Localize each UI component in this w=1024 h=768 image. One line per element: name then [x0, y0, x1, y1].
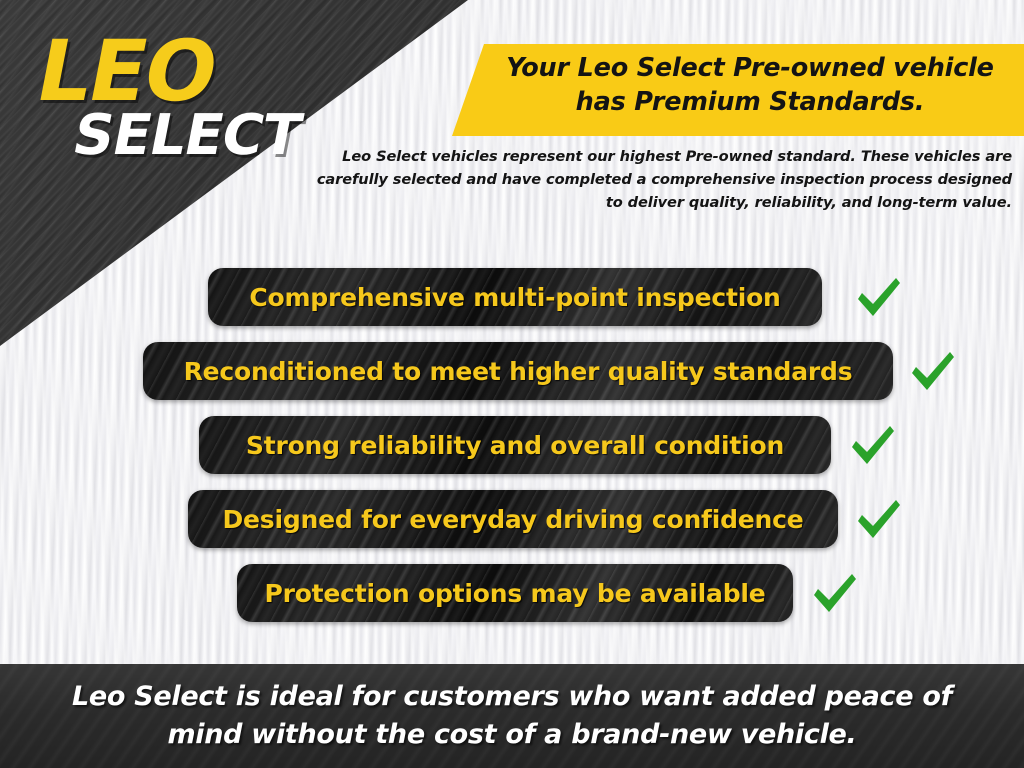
feature-row: Designed for everyday driving confidence: [0, 490, 1024, 564]
headline-text: Your Leo Select Pre-owned vehicle has Pr…: [484, 52, 1016, 119]
feature-row: Comprehensive multi-point inspection: [0, 268, 1024, 342]
footer-banner: Leo Select is ideal for customers who wa…: [0, 664, 1024, 768]
check-mark-icon: [808, 570, 860, 618]
feature-row: Protection options may be available: [0, 564, 1024, 638]
leo-select-promo-poster: LEO SELECT Your Leo Select Pre-owned veh…: [0, 0, 1024, 768]
feature-label: Reconditioned to meet higher quality sta…: [184, 357, 853, 386]
feature-row: Strong reliability and overall condition: [0, 416, 1024, 490]
feature-pill: Strong reliability and overall condition: [199, 416, 831, 474]
feature-list: Comprehensive multi-point inspection Rec…: [0, 268, 1024, 638]
check-mark-icon: [852, 274, 904, 322]
feature-pill: Comprehensive multi-point inspection: [208, 268, 822, 326]
headline-line-1: Your Leo Select Pre-owned vehicle: [484, 52, 1016, 86]
feature-pill: Reconditioned to meet higher quality sta…: [143, 342, 893, 400]
footer-text: Leo Select is ideal for customers who wa…: [62, 678, 962, 755]
feature-pill: Protection options may be available: [237, 564, 793, 622]
headline-line-2: has Premium Standards.: [484, 86, 1016, 120]
intro-paragraph: Leo Select vehicles represent our highes…: [300, 146, 1012, 214]
feature-label: Comprehensive multi-point inspection: [249, 283, 780, 312]
check-mark-icon: [846, 422, 898, 470]
footer-line-2: mind without the cost of a brand-new veh…: [62, 716, 962, 754]
feature-label: Protection options may be available: [264, 579, 765, 608]
footer-line-1: Leo Select is ideal for customers who wa…: [62, 678, 962, 716]
feature-label: Designed for everyday driving confidence: [222, 505, 803, 534]
check-mark-icon: [906, 348, 958, 396]
check-mark-icon: [852, 496, 904, 544]
brand-logo-select: SELECT: [69, 109, 305, 162]
brand-logo-leo: LEO: [32, 36, 320, 107]
feature-row: Reconditioned to meet higher quality sta…: [0, 342, 1024, 416]
feature-label: Strong reliability and overall condition: [246, 431, 784, 460]
feature-pill: Designed for everyday driving confidence: [188, 490, 838, 548]
brand-logo: LEO SELECT: [21, 36, 319, 162]
